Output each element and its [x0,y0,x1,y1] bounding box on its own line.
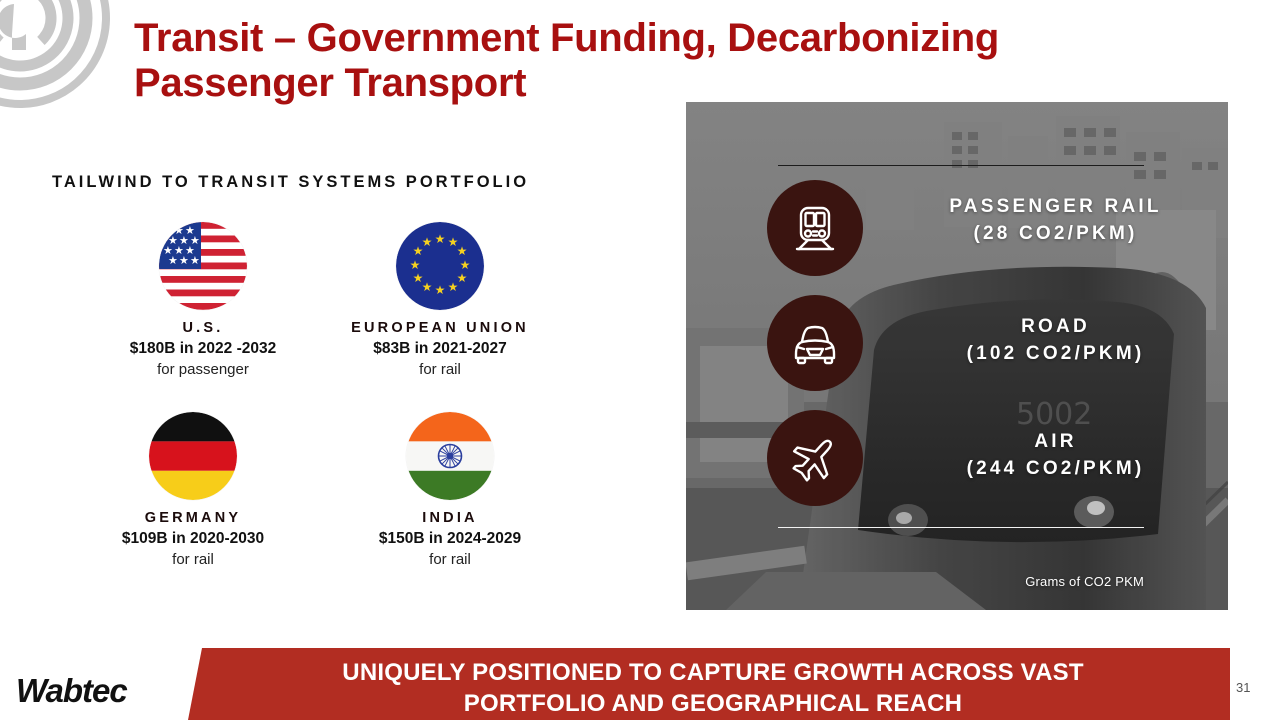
mode-value: (244 CO2/PKM) [883,455,1228,482]
mode-label: PASSENGER RAIL [883,193,1228,220]
mode-label: ROAD [883,313,1228,340]
mode-value: (102 CO2/PKM) [883,340,1228,367]
mode-row-passenger-rail: PASSENGER RAIL (28 CO2/PKM) [686,180,1228,276]
page-number: 31 [1236,680,1250,695]
svg-text:★: ★ [422,235,433,249]
mode-row-road: ROAD (102 CO2/PKM) [686,295,1228,391]
svg-text:★: ★ [448,280,459,294]
svg-text:★: ★ [457,244,468,258]
country-name: EUROPEAN UNION [315,318,565,338]
flag-eu-icon: ★★★ ★★★ ★★★ ★★★ [396,222,484,310]
flag-india-icon [406,412,494,500]
corner-watermark-logo [0,0,118,110]
country-block-germany: GERMANY $109B in 2020-2030 for rail [68,412,318,570]
wabtec-logo: Wabtec [16,672,127,710]
country-amount: $150B in 2024-2029 [325,528,575,549]
svg-text:★: ★ [410,258,421,272]
mode-label-block: PASSENGER RAIL (28 CO2/PKM) [883,193,1228,247]
country-block-european-union: ★★★ ★★★ ★★★ ★★★ EUROPEAN UNION $83B in 2… [315,222,565,380]
svg-text:★: ★ [460,258,471,272]
photo-panel-transit: 5002 [686,102,1228,610]
country-note: for passenger [78,359,328,380]
mode-row-air: AIR (244 CO2/PKM) [686,410,1228,506]
panel-divider-top [778,165,1144,166]
train-icon [767,180,863,276]
country-name: GERMANY [68,508,318,528]
country-note: for rail [68,549,318,570]
footer-line-1: UNIQUELY POSITIONED TO CAPTURE GROWTH AC… [228,657,1198,688]
svg-text:★: ★ [190,254,200,267]
svg-text:★: ★ [163,224,173,237]
country-amount: $109B in 2020-2030 [68,528,318,549]
country-amount: $180B in 2022 -2032 [78,338,328,359]
mode-label-block: ROAD (102 CO2/PKM) [883,313,1228,367]
footer-line-2: PORTFOLIO AND GEOGRAPHICAL REACH [228,688,1198,719]
panel-divider-bottom [778,527,1144,528]
section-heading-tailwind: TAILWIND TO TRANSIT SYSTEMS PORTFOLIO [52,173,529,192]
mode-value: (28 CO2/PKM) [883,220,1228,247]
svg-text:★: ★ [179,254,189,267]
footer-banner: UNIQUELY POSITIONED TO CAPTURE GROWTH AC… [188,648,1230,720]
country-block-us: ★★★ ★★★ ★★★ ★★★ U.S. $180B in 2022 -2032… [78,222,328,380]
mode-label: AIR [883,428,1228,455]
flag-germany-icon [149,412,237,500]
svg-text:★: ★ [435,283,446,297]
footer-text: UNIQUELY POSITIONED TO CAPTURE GROWTH AC… [228,657,1198,719]
airplane-icon [767,410,863,506]
country-note: for rail [315,359,565,380]
svg-text:★: ★ [168,254,178,267]
country-amount: $83B in 2021-2027 [315,338,565,359]
country-name: INDIA [325,508,575,528]
car-icon [767,295,863,391]
mode-label-block: AIR (244 CO2/PKM) [883,428,1228,482]
country-note: for rail [325,549,575,570]
flag-us-icon: ★★★ ★★★ ★★★ ★★★ [159,222,247,310]
svg-text:★: ★ [435,232,446,246]
country-name: U.S. [78,318,328,338]
concentric-arcs-icon [0,0,118,110]
page-title: Transit – Government Funding, Decarboniz… [134,16,1144,106]
panel-caption: Grams of CO2 PKM [686,574,1144,589]
country-block-india: INDIA $150B in 2024-2029 for rail [325,412,575,570]
svg-text:★: ★ [413,271,424,285]
